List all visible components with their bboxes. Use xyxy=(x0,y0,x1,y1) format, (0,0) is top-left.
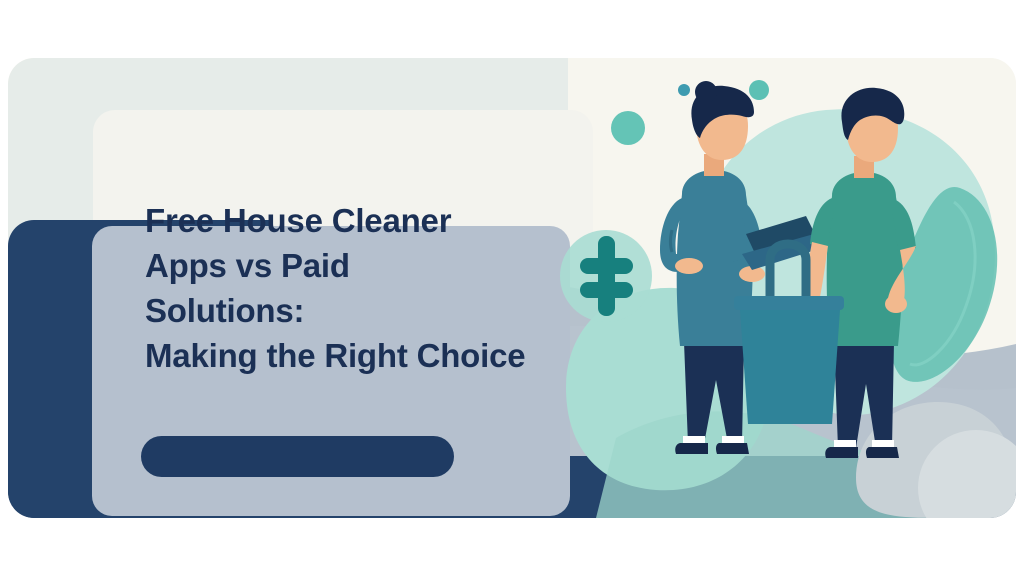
laptop-person-shoe-left xyxy=(675,443,708,454)
laptop-person-sock-right xyxy=(722,436,744,443)
bucket-cart-body xyxy=(740,310,840,424)
decor-dot-small xyxy=(678,84,690,96)
laptop-person-hair-bun xyxy=(695,81,717,103)
bucket-person-hand-right xyxy=(885,295,907,313)
bucket-person-sock-right xyxy=(872,440,894,447)
decor-dot-large xyxy=(611,111,645,145)
bucket-person-shoe-right xyxy=(866,447,899,458)
cta-pill-bar[interactable] xyxy=(141,436,454,477)
page-title: Free House Cleaner Apps vs Paid Solution… xyxy=(145,198,665,378)
bucket-person-legs xyxy=(834,342,894,448)
bucket-person-sock-left xyxy=(834,440,856,447)
laptop-person-sock-left xyxy=(683,436,705,443)
bucket-cart-rim xyxy=(734,296,844,310)
banner-root: Free House Cleaner Apps vs Paid Solution… xyxy=(0,0,1024,576)
laptop-person-hand-left xyxy=(675,258,703,274)
laptop-person-shoe-right xyxy=(716,443,749,454)
decor-dot-medium xyxy=(749,80,769,100)
banner-card: Free House Cleaner Apps vs Paid Solution… xyxy=(8,58,1016,518)
bucket-person-shoe-left xyxy=(825,447,858,458)
laptop-person-sleeve-crease xyxy=(671,230,673,252)
